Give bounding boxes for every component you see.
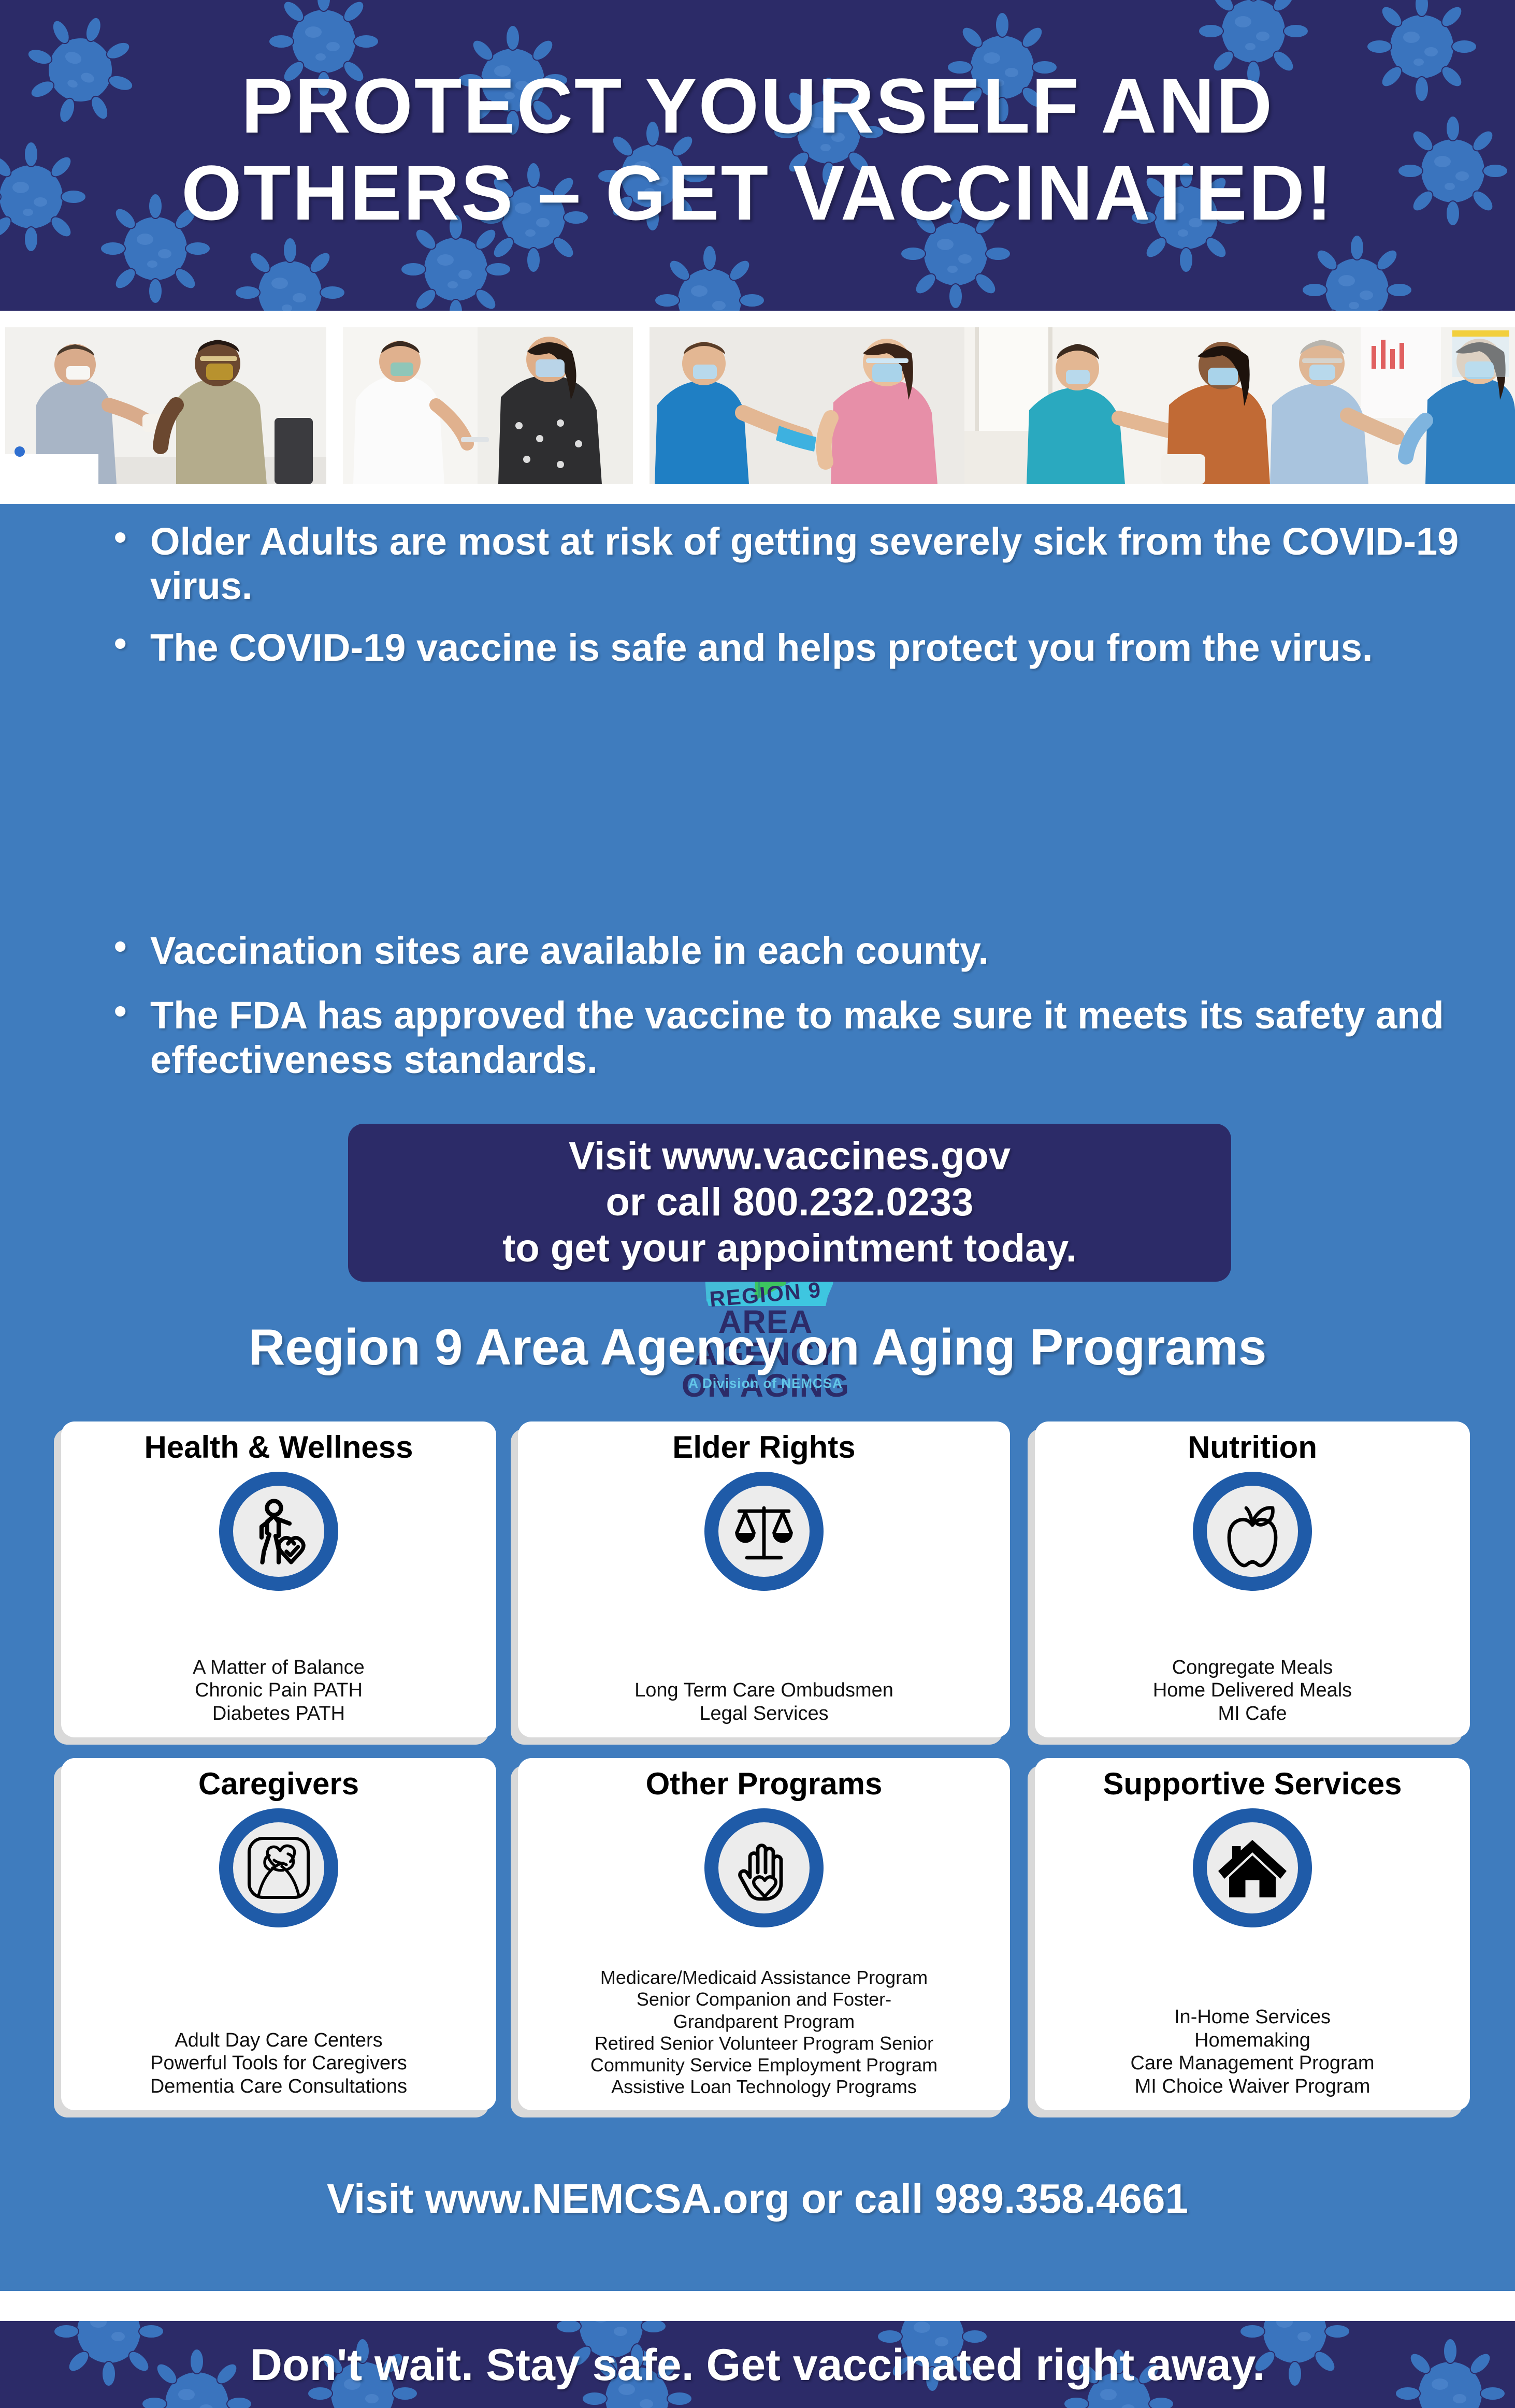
programs-section-heading: Region 9 Area Agency on Aging Programs xyxy=(0,1318,1515,1376)
hand-with-heart-icon xyxy=(725,1829,803,1907)
header-title-line-1: PROTECT YOURSELF AND xyxy=(0,62,1515,149)
bullet-item: The FDA has approved the vaccine to make… xyxy=(98,993,1466,1082)
photo-clinician-vaccinating-masked-man xyxy=(5,327,326,484)
program-card-other-programs: Other Programs Medicare/Medicaid Assista… xyxy=(518,1758,1010,2110)
program-card-title: Other Programs xyxy=(646,1767,883,1800)
program-card-supportive-services: Supportive Services In-Home Services Hom… xyxy=(1035,1758,1470,2110)
program-card-health-wellness: Health & Wellness A Matter of Balance Ch… xyxy=(61,1421,496,1737)
photo-strip xyxy=(0,311,1515,504)
bullet-item: Vaccination sites are available in each … xyxy=(98,929,1466,973)
program-card-items: Long Term Care Ombudsmen Legal Services xyxy=(634,1679,893,1730)
apple-icon xyxy=(1214,1492,1291,1570)
walking-person-heart-icon xyxy=(240,1492,318,1570)
icon-ring xyxy=(1193,1472,1312,1591)
program-card-items: In-Home Services Homemaking Care Managem… xyxy=(1131,2006,1375,2103)
footer-banner: Don't wait. Stay safe. Get vaccinated ri… xyxy=(0,2321,1515,2408)
bullet-item: The COVID-19 vaccine is safe and helps p… xyxy=(98,626,1476,670)
program-card-nutrition: Nutrition Congregate Meals Home Delivere… xyxy=(1035,1421,1470,1737)
program-card-items: Congregate Meals Home Delivered Meals MI… xyxy=(1153,1656,1352,1730)
photo-nurse-face-shield-vaccinating-older-man xyxy=(1270,327,1515,484)
program-card-title: Caregivers xyxy=(198,1767,359,1800)
house-icon xyxy=(1214,1829,1291,1907)
footer-divider xyxy=(0,2291,1515,2321)
scales-of-justice-icon xyxy=(725,1492,803,1570)
photo-nurse-vaccinating-masked-woman-window xyxy=(964,327,1270,484)
program-card-title: Nutrition xyxy=(1188,1431,1317,1463)
photo-doctor-preparing-syringe-masked-woman xyxy=(343,327,633,484)
header-banner: PROTECT YOURSELF AND OTHERS – GET VACCIN… xyxy=(0,0,1515,311)
icon-ring xyxy=(219,1472,338,1591)
header-title-line-2: OTHERS – GET VACCINATED! xyxy=(0,149,1515,236)
program-card-items: A Matter of Balance Chronic Pain PATH Di… xyxy=(193,1656,365,1730)
icon-ring xyxy=(1193,1808,1312,1927)
photo-nurse-vaccinating-masked-girl xyxy=(650,327,981,484)
nemcsa-contact-line: Visit www.NEMCSA.org or call 989.358.466… xyxy=(0,2175,1515,2223)
cta-line-3: to get your appointment today. xyxy=(502,1226,1077,1272)
footer-closing-message: Don't wait. Stay safe. Get vaccinated ri… xyxy=(0,2340,1515,2391)
icon-ring xyxy=(704,1808,824,1927)
clasped-hands-icon xyxy=(240,1829,318,1907)
bullet-item: Older Adults are most at risk of getting… xyxy=(98,519,1466,608)
program-card-title: Elder Rights xyxy=(672,1431,855,1463)
header-title: PROTECT YOURSELF AND OTHERS – GET VACCIN… xyxy=(0,62,1515,236)
vaccine-appointment-cta-box: Visit www.vaccines.gov or call 800.232.0… xyxy=(348,1124,1231,1282)
logo-division-label: A Division of NEMCSA xyxy=(657,1375,874,1391)
program-card-caregivers: Caregivers Adult Day Care Centers Powerf… xyxy=(61,1758,496,2110)
program-card-title: Health & Wellness xyxy=(144,1431,413,1463)
program-card-elder-rights: Elder Rights Long Term Care Ombudsmen Le… xyxy=(518,1421,1010,1737)
program-card-title: Supportive Services xyxy=(1103,1767,1402,1800)
program-card-items: Adult Day Care Centers Powerful Tools fo… xyxy=(150,2029,407,2103)
program-card-items: Medicare/Medicaid Assistance Program Sen… xyxy=(590,1967,937,2103)
icon-ring xyxy=(219,1808,338,1927)
icon-ring xyxy=(704,1472,824,1591)
cta-line-1: Visit www.vaccines.gov xyxy=(569,1134,1011,1180)
cta-line-2: or call 800.232.0233 xyxy=(606,1180,974,1226)
